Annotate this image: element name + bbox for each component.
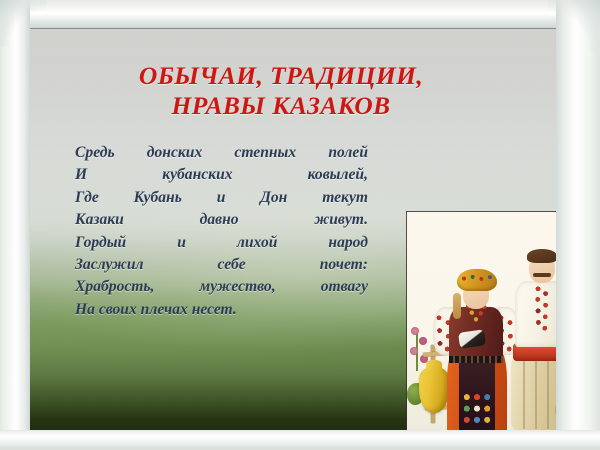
trouser-fold <box>523 361 525 429</box>
cossack-couple-illustration <box>407 212 558 431</box>
frame-bevel-bottom <box>0 430 600 450</box>
poem-line-1: Средь донских степных полей <box>75 142 368 164</box>
poem-line-3: Где Кубань и Дон текут <box>75 187 368 209</box>
poem-line-7: Храбрость, мужество, отвагу <box>75 276 368 298</box>
poem-text-block: Средь донских степных полей И кубанских … <box>75 142 368 321</box>
frame-bevel-right <box>556 0 600 450</box>
poem-line-2: И кубанских ковылей, <box>75 164 368 186</box>
hollyhock-flower-icon <box>411 327 419 335</box>
man-shirt-embroidery <box>533 285 551 333</box>
woman-apron-pattern <box>462 391 492 425</box>
man-hair <box>527 249 557 263</box>
clay-jug-icon <box>419 367 449 413</box>
frame-corner-top-right <box>548 0 600 52</box>
slide-title-line-2: НРАВЫ КАЗАКОВ <box>77 91 485 121</box>
trouser-fold <box>547 359 549 429</box>
woman-vest-trim <box>449 356 503 363</box>
slide-frame: ОБЫЧАИ, ТРАДИЦИИ, НРАВЫ КАЗАКОВ Средь до… <box>0 0 600 450</box>
poem-line-6: Заслужил себе почет: <box>75 254 368 276</box>
slide-title-line-1: ОБЫЧАИ, ТРАДИЦИИ, <box>77 61 485 91</box>
slide-title: ОБЫЧАИ, ТРАДИЦИИ, НРАВЫ КАЗАКОВ <box>77 61 485 121</box>
clay-jug-neck <box>426 360 442 371</box>
hollyhock-flower-icon <box>419 337 427 345</box>
frame-corner-top-left <box>0 0 46 46</box>
frame-bevel-left <box>0 0 30 450</box>
woman-kokoshnik-pattern <box>459 273 495 287</box>
man-mustache <box>533 273 551 277</box>
poem-line-8: На своих плечах несет. <box>75 299 368 321</box>
hollyhock-flower-icon <box>410 347 418 355</box>
woman-braid <box>453 293 461 319</box>
poem-line-5: Гордый и лихой народ <box>75 232 368 254</box>
frame-bevel-top <box>0 0 600 28</box>
trouser-fold <box>535 359 537 429</box>
slide-photo-area: ОБЫЧАИ, ТРАДИЦИИ, НРАВЫ КАЗАКОВ Средь до… <box>29 29 558 431</box>
poem-line-4: Казаки давно живут. <box>75 209 368 231</box>
